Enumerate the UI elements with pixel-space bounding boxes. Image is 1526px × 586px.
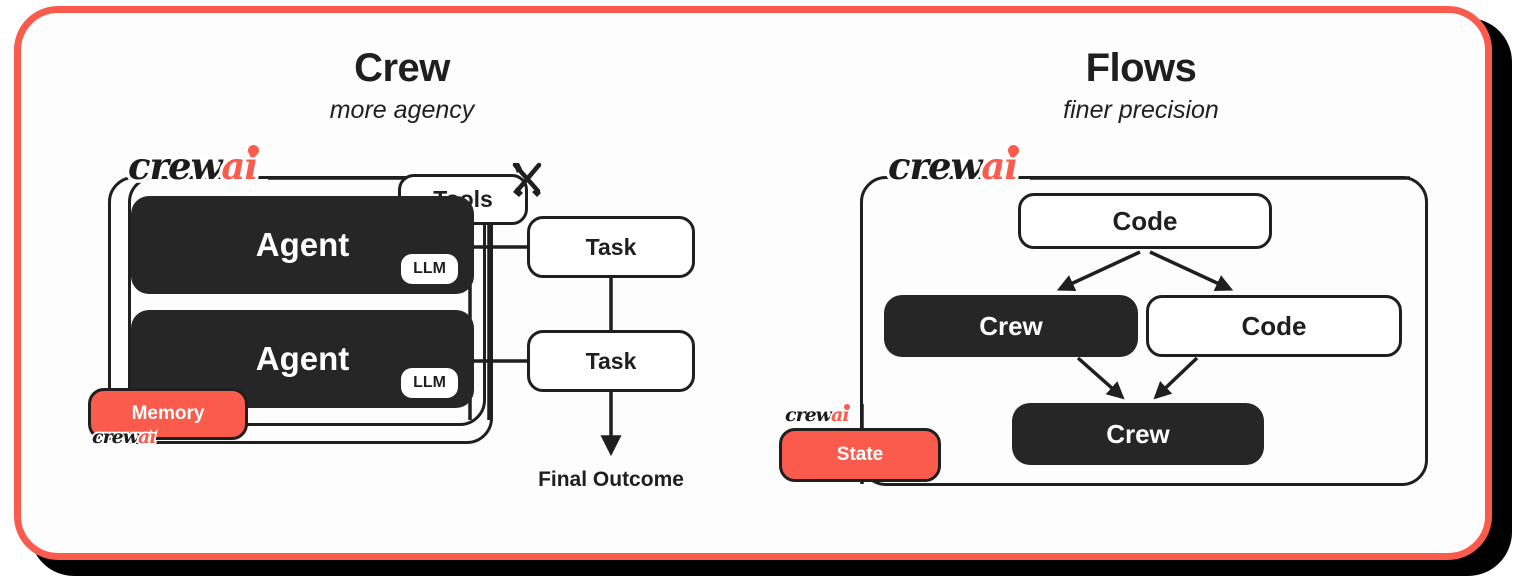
crewai-logo-memory-dot <box>151 426 157 432</box>
crew-node-bottom[interactable]: Crew <box>1012 403 1264 465</box>
crewai-logo-memory-text-crew: crew <box>92 426 138 448</box>
crewai-logo-memory: crewai <box>92 428 156 447</box>
crew-node-left[interactable]: Crew <box>884 295 1138 357</box>
crewai-logo-state-text-crew: crew <box>785 404 831 426</box>
crewai-logo-state: crewai <box>785 406 849 425</box>
crew-panel-title: Crew <box>252 46 552 91</box>
final-outcome-label: Final Outcome <box>531 468 691 492</box>
crewai-logo-state-dot <box>844 404 850 410</box>
llm-badge-2[interactable]: LLM <box>401 368 458 398</box>
crew-panel-subtitle: more agency <box>252 96 552 125</box>
diagram-canvas: Crew more agency crewai Tools Agent LLM … <box>0 0 1526 586</box>
flows-panel-title: Flows <box>991 46 1291 91</box>
state-node[interactable]: State <box>779 428 941 482</box>
flows-panel-subtitle: finer precision <box>991 96 1291 125</box>
code-node-right[interactable]: Code <box>1146 295 1402 357</box>
crewai-logo-text-crew: crew <box>128 144 221 188</box>
crewai-logo-crew: crewai <box>128 148 257 185</box>
code-node-top[interactable]: Code <box>1018 193 1272 249</box>
task-node-1[interactable]: Task <box>527 216 695 278</box>
task-node-2[interactable]: Task <box>527 330 695 392</box>
wrench-screwdriver-icon <box>505 157 549 201</box>
llm-badge-1[interactable]: LLM <box>401 254 458 284</box>
crewai-logo-flows-text-crew: crew <box>888 144 981 188</box>
crewai-logo-flows: crewai <box>888 148 1017 185</box>
